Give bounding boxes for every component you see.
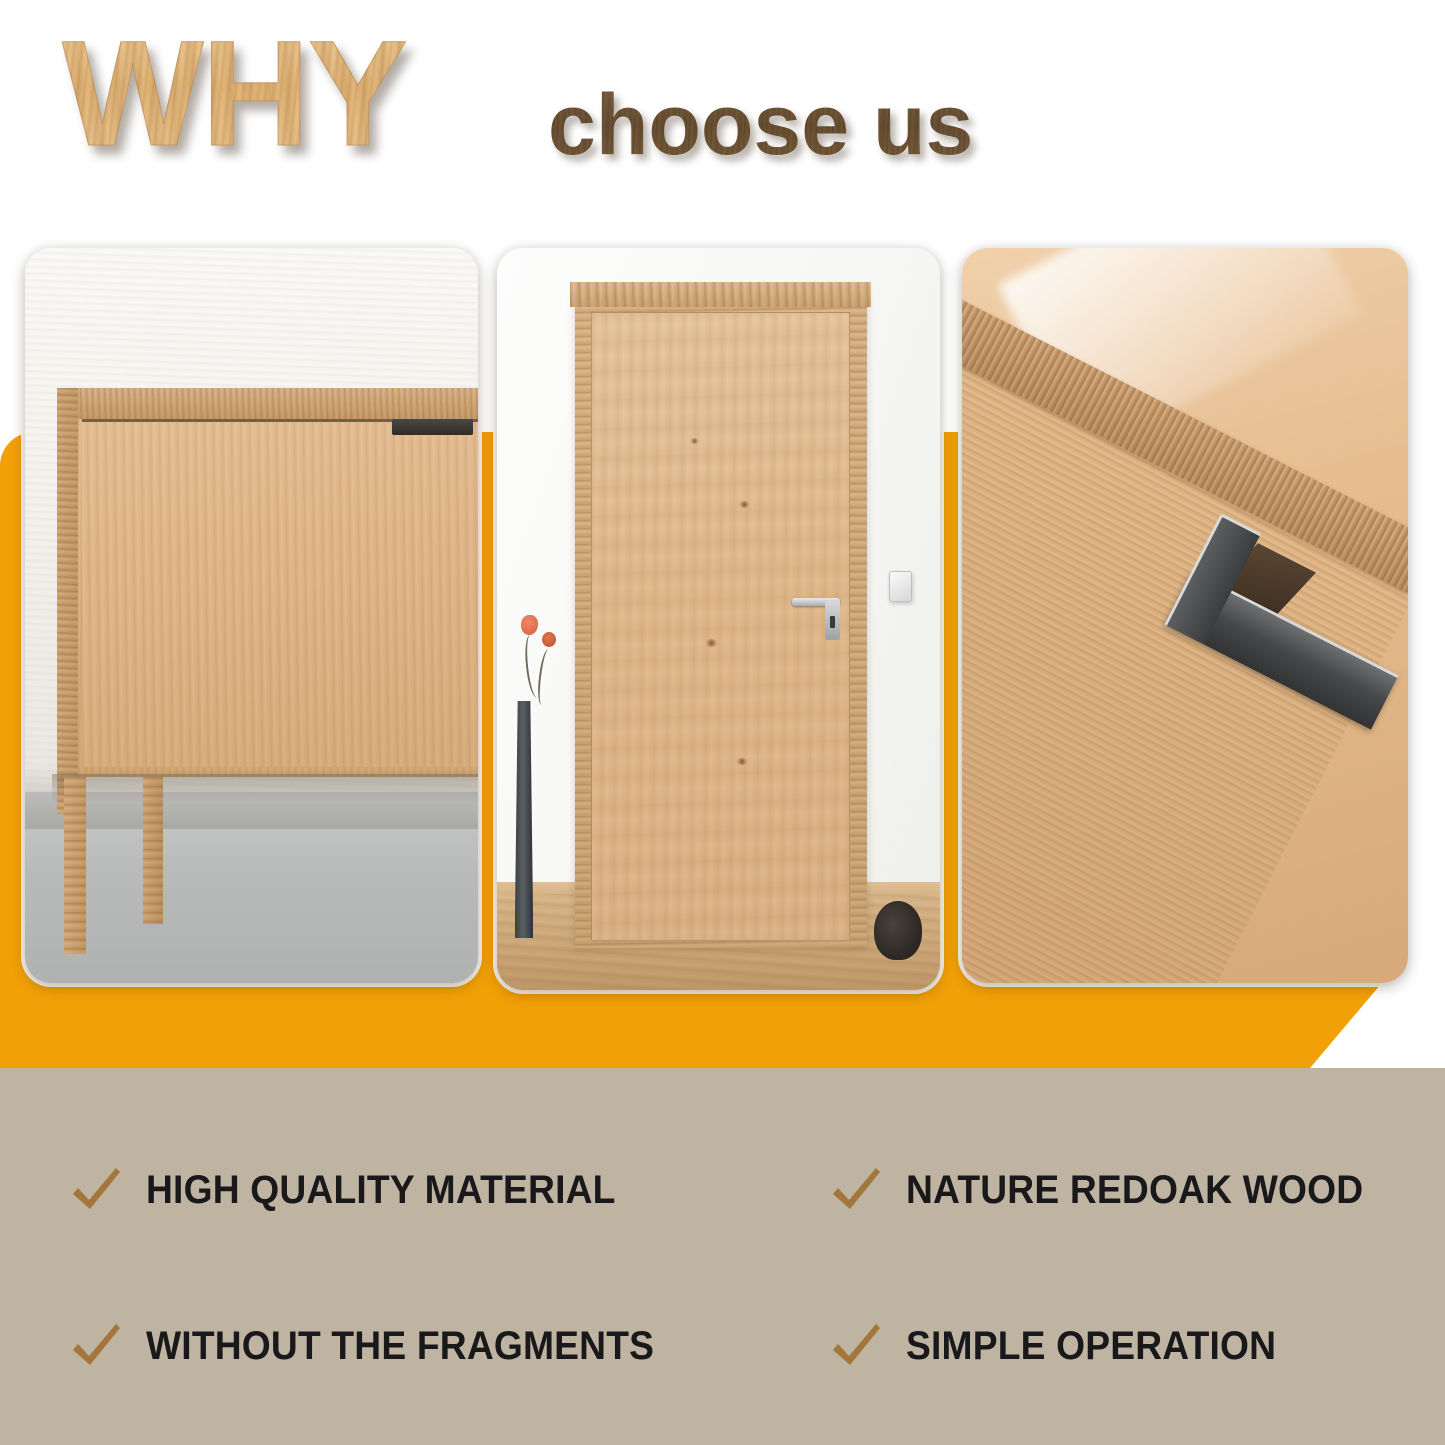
cabinet-leg-right [143,777,163,924]
feature-label: SIMPLE OPERATION [906,1324,1276,1369]
cabinet-leg-left [64,777,87,953]
feature-label: HIGH QUALITY MATERIAL [146,1168,616,1213]
features-list: HIGH QUALITY MATERIAL NATURE REDOAK WOOD… [0,1068,1445,1445]
cabinet-door-panel [82,419,478,767]
gallery-photo-oak-sideboard-cabinet[interactable] [25,248,478,983]
wood-knot [705,639,718,647]
cabinet-bar-handle [392,419,474,435]
check-icon [68,1162,124,1218]
feature-item-simple-operation: SIMPLE OPERATION [828,1318,1304,1374]
keyhole-icon [830,616,835,628]
features-panel: HIGH QUALITY MATERIAL NATURE REDOAK WOOD… [0,1068,1445,1445]
feature-item-high-quality-material: HIGH QUALITY MATERIAL [68,1162,651,1218]
wood-knot [690,438,699,444]
feature-item-without-the-fragments: WITHOUT THE FRAGMENTS [68,1318,692,1374]
page-title-secondary: choose us [548,82,973,168]
header: WHY choose us [0,0,1445,230]
check-icon [68,1318,124,1374]
photo-gallery [0,240,1445,1000]
light-switch [889,571,912,603]
oak-door-leaf [591,312,850,941]
door-frame-header [570,282,871,307]
gallery-photo-oak-interior-door[interactable] [497,248,940,990]
cabinet-top-edge [57,388,478,419]
photo-scene [25,248,478,983]
feature-label: WITHOUT THE FRAGMENTS [146,1324,654,1369]
photo-scene [497,248,940,990]
feature-label: NATURE REDOAK WOOD [906,1168,1363,1213]
gallery-photo-oak-panel-edge-macro[interactable] [962,248,1408,983]
check-icon [828,1162,884,1218]
photo-scene [962,248,1408,983]
wood-knot [739,501,750,508]
cabinet-left-stile [57,388,78,814]
check-icon [828,1318,884,1374]
page-title-primary: WHY [62,18,406,168]
feature-item-nature-redoak-wood: NATURE REDOAK WOOD [828,1162,1398,1218]
floor-vase [515,701,534,938]
cabinet-underside-shadow [52,774,478,803]
wood-knot [736,758,748,765]
wood-log-stool [874,901,923,960]
why-choose-us-infographic: WHY choose us [0,0,1445,1445]
